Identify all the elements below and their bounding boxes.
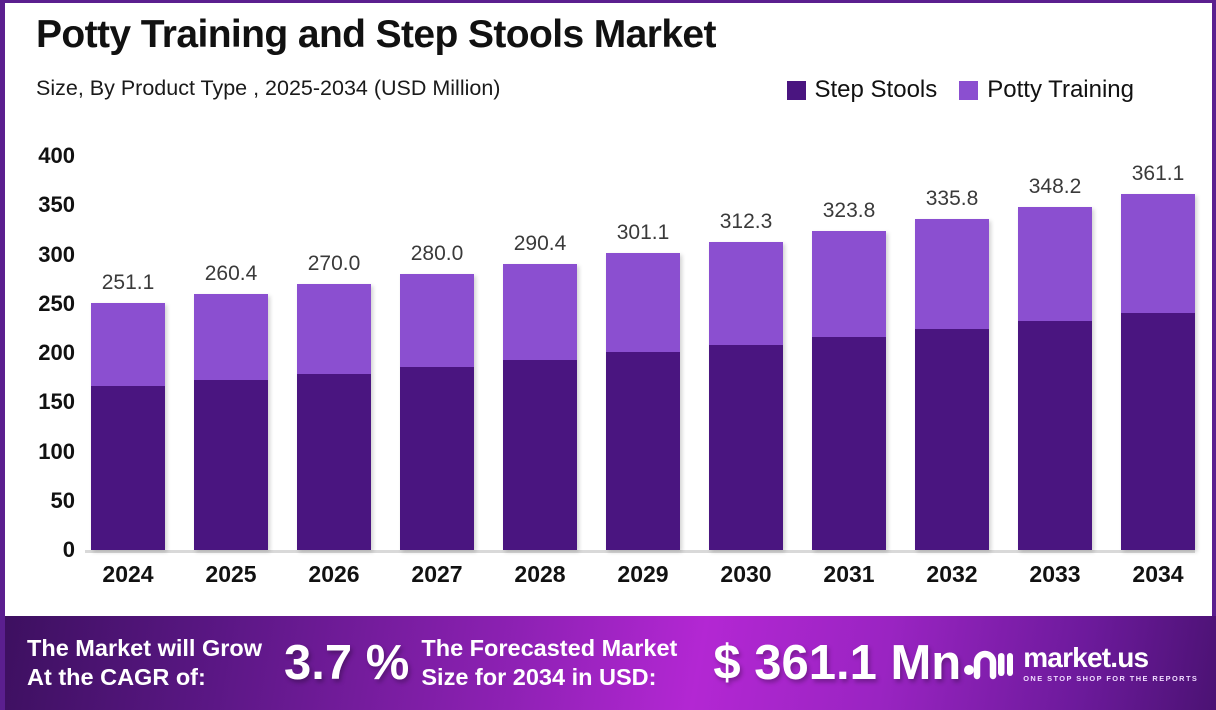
x-axis-tick: 2024 — [91, 561, 165, 601]
bar-value-label: 270.0 — [308, 252, 361, 276]
bar-segment-step-stools[interactable] — [297, 374, 371, 550]
bar-segment-potty-training[interactable] — [606, 253, 680, 352]
bar-column[interactable]: 348.2 — [1018, 121, 1092, 550]
bar-value-label: 335.8 — [926, 187, 979, 211]
bar-segment-step-stools[interactable] — [91, 386, 165, 550]
cagr-caption-line1: The Market will Grow — [27, 634, 262, 663]
cagr-value: 3.7 % — [284, 635, 409, 691]
stacked-bar[interactable] — [194, 294, 268, 550]
x-axis: 2024202520262027202820292030203120322033… — [91, 561, 1195, 601]
bar-value-label: 280.0 — [411, 242, 464, 266]
x-axis-tick: 2026 — [297, 561, 371, 601]
bar-column[interactable]: 290.4 — [503, 121, 577, 550]
x-axis-tick: 2027 — [400, 561, 474, 601]
stacked-bar[interactable] — [709, 242, 783, 550]
y-axis: 400350300250200150100500 — [5, 121, 85, 561]
x-axis-tick: 2034 — [1121, 561, 1195, 601]
logo-name: market.us — [1023, 644, 1198, 672]
x-axis-baseline — [85, 550, 1195, 553]
market-us-logo[interactable]: market.us ONE STOP SHOP FOR THE REPORTS — [961, 644, 1198, 682]
bar-segment-potty-training[interactable] — [1121, 194, 1195, 312]
bar-column[interactable]: 301.1 — [606, 121, 680, 550]
market-us-logo-text: market.us ONE STOP SHOP FOR THE REPORTS — [1023, 644, 1198, 682]
bar-value-label: 312.3 — [720, 210, 773, 234]
stacked-bar[interactable] — [297, 284, 371, 550]
bar-segment-potty-training[interactable] — [194, 294, 268, 381]
bar-column[interactable]: 335.8 — [915, 121, 989, 550]
chart-header: Potty Training and Step Stools Market Si… — [5, 3, 1212, 121]
bar-value-label: 260.4 — [205, 262, 258, 286]
logo-tagline: ONE STOP SHOP FOR THE REPORTS — [1023, 675, 1198, 682]
market-us-logo-icon — [961, 646, 1013, 680]
bar-value-label: 301.1 — [617, 221, 670, 245]
y-axis-tick: 250 — [38, 291, 75, 317]
bar-segment-step-stools[interactable] — [915, 329, 989, 550]
x-axis-tick: 2028 — [503, 561, 577, 601]
bar-segment-potty-training[interactable] — [400, 274, 474, 367]
x-axis-tick: 2029 — [606, 561, 680, 601]
bar-segment-step-stools[interactable] — [812, 337, 886, 550]
y-axis-tick: 0 — [63, 537, 75, 563]
x-axis-tick: 2031 — [812, 561, 886, 601]
stacked-bar[interactable] — [91, 303, 165, 550]
legend-swatch-icon — [959, 81, 978, 100]
forecast-caption-line1: The Forecasted Market — [421, 634, 677, 663]
y-axis-tick: 150 — [38, 389, 75, 415]
chart-legend: Step Stools Potty Training — [787, 76, 1135, 104]
stacked-bar[interactable] — [812, 231, 886, 550]
bar-segment-step-stools[interactable] — [1121, 313, 1195, 550]
bar-column[interactable]: 251.1 — [91, 121, 165, 550]
bar-value-label: 290.4 — [514, 232, 567, 256]
y-axis-tick: 200 — [38, 340, 75, 366]
bar-segment-potty-training[interactable] — [709, 242, 783, 344]
legend-label: Step Stools — [815, 76, 938, 104]
legend-swatch-icon — [787, 81, 806, 100]
chart-plot-area: 400350300250200150100500 251.1260.4270.0… — [5, 121, 1216, 611]
bar-segment-potty-training[interactable] — [915, 219, 989, 329]
stacked-bar[interactable] — [915, 219, 989, 550]
bar-segment-step-stools[interactable] — [1018, 321, 1092, 550]
bar-value-label: 348.2 — [1029, 175, 1082, 199]
bar-segment-potty-training[interactable] — [503, 264, 577, 360]
forecast-caption: The Forecasted Market Size for 2034 in U… — [421, 634, 677, 691]
bar-column[interactable]: 270.0 — [297, 121, 371, 550]
stacked-bar[interactable] — [606, 253, 680, 550]
y-axis-tick: 400 — [38, 143, 75, 169]
bar-segment-step-stools[interactable] — [194, 380, 268, 550]
stacked-bar[interactable] — [400, 274, 474, 550]
bar-segment-potty-training[interactable] — [812, 231, 886, 337]
bar-segment-potty-training[interactable] — [297, 284, 371, 374]
stacked-bar[interactable] — [1018, 207, 1092, 550]
bar-group: 251.1260.4270.0280.0290.4301.1312.3323.8… — [91, 121, 1195, 550]
page-title: Potty Training and Step Stools Market — [36, 13, 716, 57]
legend-item-step-stools[interactable]: Step Stools — [787, 76, 938, 104]
bar-column[interactable]: 361.1 — [1121, 121, 1195, 550]
stacked-bar[interactable] — [503, 264, 577, 550]
cagr-caption-line2: At the CAGR of: — [27, 663, 262, 692]
bar-value-label: 323.8 — [823, 199, 876, 223]
y-axis-tick: 50 — [51, 488, 75, 514]
bottom-banner: The Market will Grow At the CAGR of: 3.7… — [5, 616, 1216, 710]
bar-segment-step-stools[interactable] — [709, 345, 783, 550]
bar-segment-step-stools[interactable] — [503, 360, 577, 550]
legend-item-potty-training[interactable]: Potty Training — [959, 76, 1134, 104]
x-axis-tick: 2030 — [709, 561, 783, 601]
forecast-value: $ 361.1 Mn — [713, 635, 961, 691]
bar-segment-potty-training[interactable] — [1018, 207, 1092, 321]
bar-segment-step-stools[interactable] — [400, 367, 474, 550]
forecast-caption-line2: Size for 2034 in USD: — [421, 663, 677, 692]
y-axis-tick: 300 — [38, 242, 75, 268]
bar-segment-potty-training[interactable] — [91, 303, 165, 387]
x-axis-tick: 2025 — [194, 561, 268, 601]
bar-column[interactable]: 323.8 — [812, 121, 886, 550]
stacked-bar[interactable] — [1121, 194, 1195, 550]
x-axis-tick: 2033 — [1018, 561, 1092, 601]
bar-column[interactable]: 312.3 — [709, 121, 783, 550]
bar-column[interactable]: 280.0 — [400, 121, 474, 550]
chart-page: Potty Training and Step Stools Market Si… — [0, 0, 1216, 710]
y-axis-tick: 350 — [38, 192, 75, 218]
legend-label: Potty Training — [987, 76, 1134, 104]
bar-column[interactable]: 260.4 — [194, 121, 268, 550]
bar-value-label: 361.1 — [1132, 162, 1185, 186]
cagr-caption: The Market will Grow At the CAGR of: — [27, 634, 262, 691]
y-axis-tick: 100 — [38, 439, 75, 465]
bar-value-label: 251.1 — [102, 271, 155, 295]
bar-segment-step-stools[interactable] — [606, 352, 680, 550]
page-subtitle: Size, By Product Type , 2025-2034 (USD M… — [36, 76, 500, 101]
x-axis-tick: 2032 — [915, 561, 989, 601]
